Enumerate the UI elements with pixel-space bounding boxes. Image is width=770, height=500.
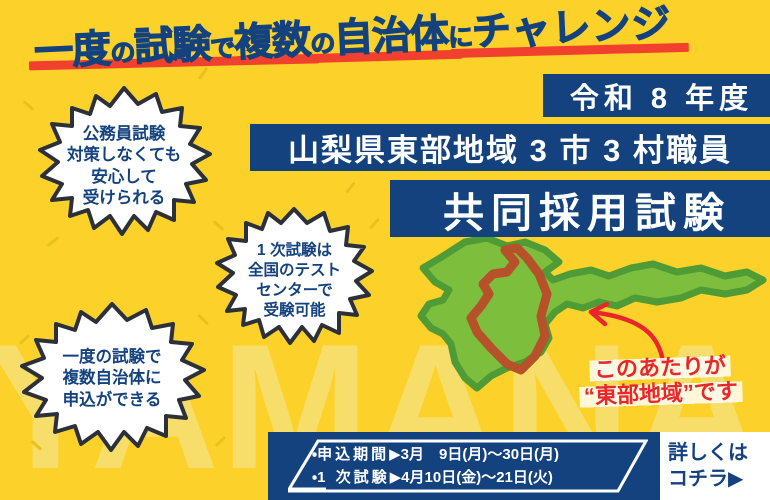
bubble-no-prep: 公務員試験 対策しなくても 安心して 受けられる: [34, 84, 214, 249]
footer-marker-icon: ▶: [389, 446, 401, 463]
headline-part-0: 一度: [33, 28, 111, 74]
cta-panel[interactable]: 詳しくは コチラ▶: [660, 432, 770, 500]
bubble-test-center-text: 1 次試験は 全国のテスト センターで 受験可能: [212, 205, 377, 357]
headline-part-5: の: [310, 30, 335, 59]
headline-text: 一度の試験で複数の自治体にチャレンジ: [33, 0, 673, 77]
headline-part-2: 試験: [133, 23, 211, 69]
bubble-line: 申込ができる: [63, 390, 162, 411]
banner-region-title: 山梨県東部地域 3 市 3 村職員: [250, 124, 770, 171]
headline-part-6: 自治体: [333, 12, 449, 60]
bubble-test-center: 1 次試験は 全国のテスト センターで 受験可能: [212, 205, 377, 357]
bubble-line: 対策しなくても: [67, 145, 181, 166]
footer-schedule-block: ・申込期間▶3月 9日(月)〜30日(月) ・1 次試験▶4月10日(金)〜21…: [268, 432, 668, 500]
bubble-multi-apply-text: 一度の試験で 複数自治体に 申込ができる: [16, 300, 208, 458]
footer-label: 申込期間: [317, 446, 389, 463]
footer-value: 3月 9日(月)〜30日(月): [401, 446, 559, 463]
headline-part-1: の: [110, 39, 135, 68]
footer-schedule-lines: ・申込期間▶3月 9日(月)〜30日(月) ・1 次試験▶4月10日(金)〜21…: [312, 442, 642, 490]
footer-marker-icon: ▶: [390, 469, 402, 486]
banner-fiscal-year: 令和 8 年度: [543, 74, 770, 117]
sparkle-decoration: [23, 100, 35, 111]
bubble-line: センターで: [256, 281, 333, 301]
bubble-line: 1 次試験は: [257, 241, 332, 261]
footer-value: 4月10日(金)〜21日(火): [401, 469, 553, 486]
footer-row-application: ・申込期間▶3月 9日(月)〜30日(月): [312, 443, 642, 466]
cta-line1: 詳しくは: [668, 441, 768, 467]
bubble-line: 一度の試験で: [63, 347, 162, 368]
headline: 一度の試験で複数の自治体にチャレンジ: [13, 0, 725, 84]
poster-root: YAMANASHI このあたりが “東部地域”です 一度の試験で複数の自治体にチ…: [0, 0, 770, 500]
footer-label: 1 次試験: [317, 469, 390, 486]
headline-part-3: で: [210, 34, 235, 63]
bubble-line: 安心して: [91, 167, 157, 188]
map-annotation: このあたりが “東部地域”です: [552, 351, 769, 410]
bubble-no-prep-text: 公務員試験 対策しなくても 安心して 受けられる: [34, 84, 214, 249]
headline-part-7: に: [448, 23, 473, 52]
headline-part-4: 複数: [233, 19, 311, 65]
bubble-line: 受験可能: [263, 301, 325, 321]
cta-line2: コチラ▶: [668, 467, 768, 493]
bubble-line: 受けられる: [83, 188, 166, 209]
headline-part-8: チャレンジ: [471, 2, 672, 54]
bubble-multi-apply: 一度の試験で 複数自治体に 申込ができる: [16, 300, 208, 458]
cta-text[interactable]: 詳しくは コチラ▶: [668, 441, 768, 492]
footer-row-first-exam: ・1 次試験▶4月10日(金)〜21日(火): [312, 466, 642, 489]
bubble-line: 公務員試験: [83, 124, 166, 145]
bubble-line: 複数自治体に: [63, 368, 162, 389]
banner-exam-title: 共同採用試験: [390, 180, 770, 237]
bubble-line: 全国のテスト: [248, 261, 341, 281]
sparkle-decoration: [345, 182, 356, 194]
